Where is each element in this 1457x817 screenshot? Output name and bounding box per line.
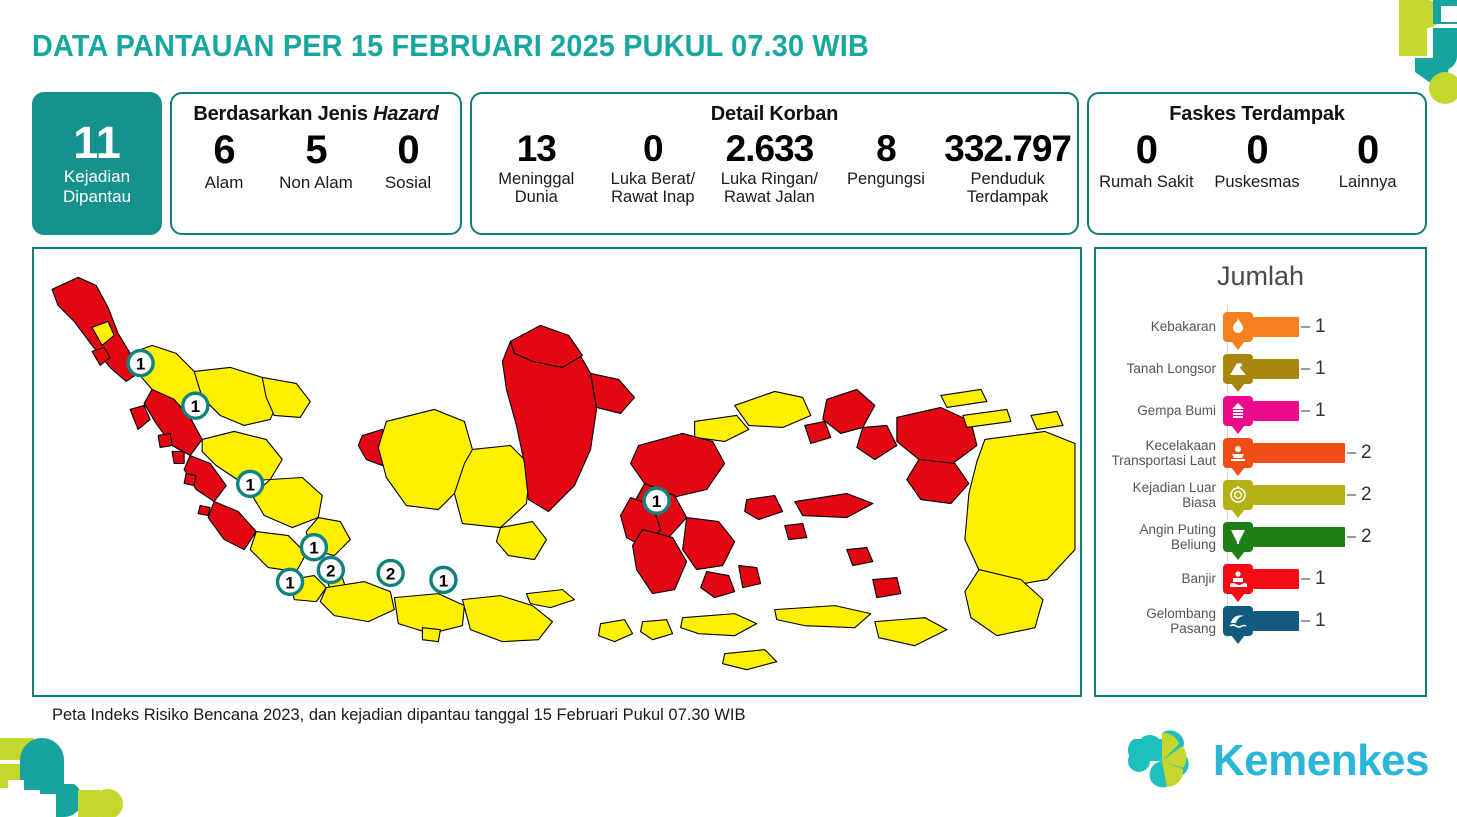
map-marker-java-banten[interactable]: 1 bbox=[301, 535, 326, 560]
victim-card-title: Detail Korban bbox=[472, 103, 1077, 126]
decor-bottom-left bbox=[0, 732, 135, 817]
hazard-bar bbox=[1253, 317, 1299, 337]
marker-count: 1 bbox=[191, 397, 200, 416]
hazard-bar bbox=[1253, 485, 1345, 505]
map-marker-sulawesi-southeast[interactable]: 1 bbox=[644, 488, 669, 513]
map-region-biak bbox=[1031, 411, 1063, 429]
map-region-papua-barat-2 bbox=[907, 459, 969, 503]
hazard-bar-tick bbox=[1301, 620, 1310, 622]
victim-metrics: 13 Meninggal Dunia 0 Luka Berat/ Rawat I… bbox=[472, 130, 1077, 207]
total-incidents-label-line1: Kejadian bbox=[64, 167, 130, 186]
metric-penduduk-terdampak-label: Penduduk Terdampak bbox=[944, 170, 1071, 207]
map-marker-java-central[interactable]: 2 bbox=[378, 560, 403, 585]
metric-non-alam-label: Non Alam bbox=[270, 173, 362, 192]
metric-sosial: 0 Sosial bbox=[362, 130, 454, 192]
map-region-maluku-n bbox=[805, 421, 831, 443]
hazard-row-landslide[interactable]: Tanah Longsor1 bbox=[1096, 348, 1425, 390]
map-region-bali bbox=[599, 620, 633, 642]
map-region-sumba bbox=[723, 650, 777, 670]
hazard-row-tidal-wave[interactable]: Gelombang Pasang1 bbox=[1096, 600, 1425, 642]
metric-non-alam: 5 Non Alam bbox=[270, 130, 362, 192]
map-region-lampung bbox=[250, 532, 306, 572]
indonesia-map[interactable]: 111121211 bbox=[34, 249, 1080, 695]
map-marker-java-lampung[interactable]: 1 bbox=[278, 569, 303, 594]
health-facility-card: Faskes Terdampak 0 Rumah Sakit 0 Puskesm… bbox=[1087, 92, 1427, 235]
metric-penduduk-terdampak: 332.797 Penduduk Terdampak bbox=[944, 130, 1071, 207]
map-region-buru bbox=[745, 496, 783, 520]
metric-luka-ringan: 2.633 Luka Ringan/ Rawat Jalan bbox=[711, 130, 828, 207]
victim-detail-card: Detail Korban 13 Meninggal Dunia 0 Luka … bbox=[470, 92, 1079, 235]
hazard-value: 1 bbox=[1315, 568, 1329, 590]
flood-icon bbox=[1223, 564, 1253, 594]
map-marker-sumatra-south[interactable]: 1 bbox=[238, 471, 263, 496]
hazard-bar bbox=[1253, 527, 1345, 547]
map-region-sulut bbox=[735, 391, 811, 427]
map-region-lampung-hi bbox=[208, 502, 256, 550]
tidal-wave-icon bbox=[1223, 606, 1253, 636]
metric-puskesmas-label: Puskesmas bbox=[1202, 173, 1313, 191]
map-region-sumbawa bbox=[681, 614, 757, 636]
metric-penduduk-terdampak-value: 332.797 bbox=[944, 130, 1071, 167]
total-incidents-label-line2: Dipantau bbox=[63, 187, 131, 206]
map-marker-java-east[interactable]: 1 bbox=[431, 567, 456, 592]
metric-sosial-label: Sosial bbox=[362, 173, 454, 192]
hazard-value: 1 bbox=[1315, 610, 1329, 632]
map-region-papua bbox=[965, 431, 1075, 585]
map-region-mentawai-3 bbox=[184, 474, 196, 486]
map-marker-sumatra-riau[interactable]: 1 bbox=[183, 393, 208, 418]
hazard-count-legend-panel: Jumlah Kebakaran1Tanah Longsor1Gempa Bum… bbox=[1094, 247, 1427, 697]
metric-rumah-sakit-label: Rumah Sakit bbox=[1091, 173, 1202, 191]
metric-luka-berat-value: 0 bbox=[595, 130, 712, 167]
hazard-value: 1 bbox=[1315, 358, 1329, 380]
kpi-row: 11 Kejadian Dipantau Berdasarkan Jenis H… bbox=[32, 92, 1427, 235]
hazard-row-sea-transport-accident[interactable]: Kecelakaan Transportasi Laut2 bbox=[1096, 432, 1425, 474]
brand-lockup: Kemenkes bbox=[1125, 727, 1429, 795]
hazard-value: 2 bbox=[1361, 484, 1375, 506]
map-region-kei bbox=[847, 548, 873, 566]
metric-rumah-sakit: 0 Rumah Sakit bbox=[1091, 130, 1202, 191]
hazard-label: Angin Puting Beliung bbox=[1096, 522, 1222, 552]
hazard-card-title: Berdasarkan Jenis Hazard bbox=[172, 103, 460, 126]
map-region-flores bbox=[775, 606, 871, 628]
map-region-ambon bbox=[785, 524, 807, 540]
hazard-bar bbox=[1253, 401, 1299, 421]
hazard-bar-tick bbox=[1347, 452, 1356, 454]
hazard-type-card: Berdasarkan Jenis Hazard 6 Alam 5 Non Al… bbox=[170, 92, 462, 235]
total-incidents-card: 11 Kejadian Dipantau bbox=[32, 92, 162, 235]
metric-lainnya-value: 0 bbox=[1312, 130, 1423, 170]
tornado-icon bbox=[1223, 522, 1253, 552]
metric-meninggal-dunia-value: 13 bbox=[478, 130, 595, 167]
hazard-bar-tick bbox=[1301, 410, 1310, 412]
hazard-row-flood[interactable]: Banjir1 bbox=[1096, 558, 1425, 600]
hazard-label: Kecelakaan Transportasi Laut bbox=[1096, 438, 1222, 468]
map-region-kaltim-e bbox=[591, 373, 635, 413]
map-region-yogya bbox=[422, 628, 440, 642]
metric-pengungsi-value: 8 bbox=[828, 130, 945, 167]
legend-title: Jumlah bbox=[1096, 261, 1425, 292]
metric-pengungsi: 8 Pengungsi bbox=[828, 130, 945, 188]
metric-alam: 6 Alam bbox=[178, 130, 270, 192]
map-region-timor bbox=[875, 618, 947, 646]
hazard-label: Kejadian Luar Biasa bbox=[1096, 480, 1222, 510]
hazard-bar-list: Kebakaran1Tanah Longsor1Gempa Bumi1Kecel… bbox=[1096, 306, 1425, 642]
marker-count: 1 bbox=[136, 355, 145, 374]
landslide-icon bbox=[1223, 354, 1253, 384]
sea-transport-accident-icon bbox=[1223, 438, 1253, 468]
metric-pengungsi-label: Pengungsi bbox=[828, 170, 945, 188]
map-marker-java-west[interactable]: 2 bbox=[318, 557, 343, 582]
metric-rumah-sakit-value: 0 bbox=[1091, 130, 1202, 170]
hazard-value: 2 bbox=[1361, 526, 1375, 548]
earthquake-icon bbox=[1223, 396, 1253, 426]
map-region-papua-isl-2 bbox=[963, 409, 1011, 427]
hazard-row-fire[interactable]: Kebakaran1 bbox=[1096, 306, 1425, 348]
map-region-kalsel bbox=[496, 522, 546, 560]
marker-count: 1 bbox=[285, 573, 294, 592]
hazard-bar-tick bbox=[1301, 578, 1310, 580]
map-region-seram bbox=[795, 494, 873, 518]
map-region-buton bbox=[739, 566, 761, 588]
map-region-enggano bbox=[198, 506, 210, 516]
marker-count: 1 bbox=[652, 492, 661, 511]
page-title: DATA PANTAUAN PER 15 FEBRUARI 2025 PUKUL… bbox=[32, 28, 869, 64]
metric-lainnya: 0 Lainnya bbox=[1312, 130, 1423, 191]
fire-icon bbox=[1223, 312, 1253, 342]
map-region-mentawai-1 bbox=[158, 433, 172, 447]
metric-meninggal-dunia-label: Meninggal Dunia bbox=[478, 170, 595, 207]
hazard-bar bbox=[1253, 443, 1345, 463]
metric-meninggal-dunia: 13 Meninggal Dunia bbox=[478, 130, 595, 207]
map-region-halmahera-2 bbox=[857, 425, 897, 459]
marker-count: 1 bbox=[245, 475, 254, 494]
map-region-sultra bbox=[683, 518, 735, 570]
hazard-bar-tick bbox=[1347, 536, 1356, 538]
marker-count: 2 bbox=[326, 561, 335, 580]
hazard-bar bbox=[1253, 359, 1299, 379]
metric-non-alam-value: 5 bbox=[270, 130, 362, 170]
metric-alam-value: 6 bbox=[178, 130, 270, 170]
metric-puskesmas: 0 Puskesmas bbox=[1202, 130, 1313, 191]
metric-puskesmas-value: 0 bbox=[1202, 130, 1313, 170]
map-region-tanimbar bbox=[873, 578, 901, 598]
hazard-label: Tanah Longsor bbox=[1096, 361, 1222, 376]
marker-count: 1 bbox=[439, 571, 448, 590]
hazard-label: Banjir bbox=[1096, 571, 1222, 586]
hazard-label: Kebakaran bbox=[1096, 319, 1222, 334]
map-region-jateng bbox=[394, 594, 464, 634]
hazard-metrics: 6 Alam 5 Non Alam 0 Sosial bbox=[172, 130, 460, 192]
faskes-card-title: Faskes Terdampak bbox=[1089, 103, 1425, 126]
metric-alam-label: Alam bbox=[178, 173, 270, 192]
map-source-note: Peta Indeks Risiko Bencana 2023, dan kej… bbox=[52, 706, 745, 725]
total-incidents-value: 11 bbox=[73, 121, 121, 165]
brand-name: Kemenkes bbox=[1213, 736, 1429, 786]
map-region-mentawai-2 bbox=[172, 451, 184, 463]
hazard-value: 2 bbox=[1361, 442, 1375, 464]
hazard-value: 1 bbox=[1315, 400, 1329, 422]
hazard-bar bbox=[1253, 611, 1299, 631]
faskes-metrics: 0 Rumah Sakit 0 Puskesmas 0 Lainnya bbox=[1089, 130, 1425, 191]
map-region-sultra-2 bbox=[701, 572, 735, 598]
hazard-bar bbox=[1253, 569, 1299, 589]
map-region-papua-isl-1 bbox=[941, 389, 987, 407]
hazard-bar-tick bbox=[1301, 326, 1310, 328]
metric-luka-berat: 0 Luka Berat/ Rawat Inap bbox=[595, 130, 712, 207]
metric-luka-ringan-label: Luka Ringan/ Rawat Jalan bbox=[711, 170, 828, 207]
hazard-bar-tick bbox=[1301, 368, 1310, 370]
hazard-value: 1 bbox=[1315, 316, 1329, 338]
kemenkes-logo-icon bbox=[1125, 727, 1199, 795]
outbreak-icon bbox=[1223, 480, 1253, 510]
map-region-jabar bbox=[320, 582, 394, 622]
map-region-sulsel bbox=[633, 530, 687, 594]
map-region-madura bbox=[526, 590, 574, 608]
marker-count: 1 bbox=[309, 539, 318, 558]
metric-lainnya-label: Lainnya bbox=[1312, 173, 1423, 191]
metric-sosial-value: 0 bbox=[362, 130, 454, 170]
hazard-row-outbreak[interactable]: Kejadian Luar Biasa2 bbox=[1096, 474, 1425, 516]
hazard-row-earthquake[interactable]: Gempa Bumi1 bbox=[1096, 390, 1425, 432]
hazard-title-prefix: Berdasarkan Jenis bbox=[193, 103, 373, 125]
map-marker-sumatra-north[interactable]: 1 bbox=[128, 351, 153, 376]
hazard-label: Gelombang Pasang bbox=[1096, 606, 1222, 636]
hazard-bar-tick bbox=[1347, 494, 1356, 496]
hazard-label: Gempa Bumi bbox=[1096, 403, 1222, 418]
map-region-gorontalo bbox=[695, 415, 749, 441]
indonesia-risk-map-panel[interactable]: 111121211 bbox=[32, 247, 1082, 697]
marker-count: 2 bbox=[386, 564, 395, 583]
hazard-title-emphasis: Hazard bbox=[373, 103, 439, 125]
metric-luka-ringan-value: 2.633 bbox=[711, 130, 828, 167]
hazard-row-tornado[interactable]: Angin Puting Beliung2 bbox=[1096, 516, 1425, 558]
metric-luka-berat-label: Luka Berat/ Rawat Inap bbox=[595, 170, 712, 207]
map-region-lombok bbox=[641, 620, 673, 640]
